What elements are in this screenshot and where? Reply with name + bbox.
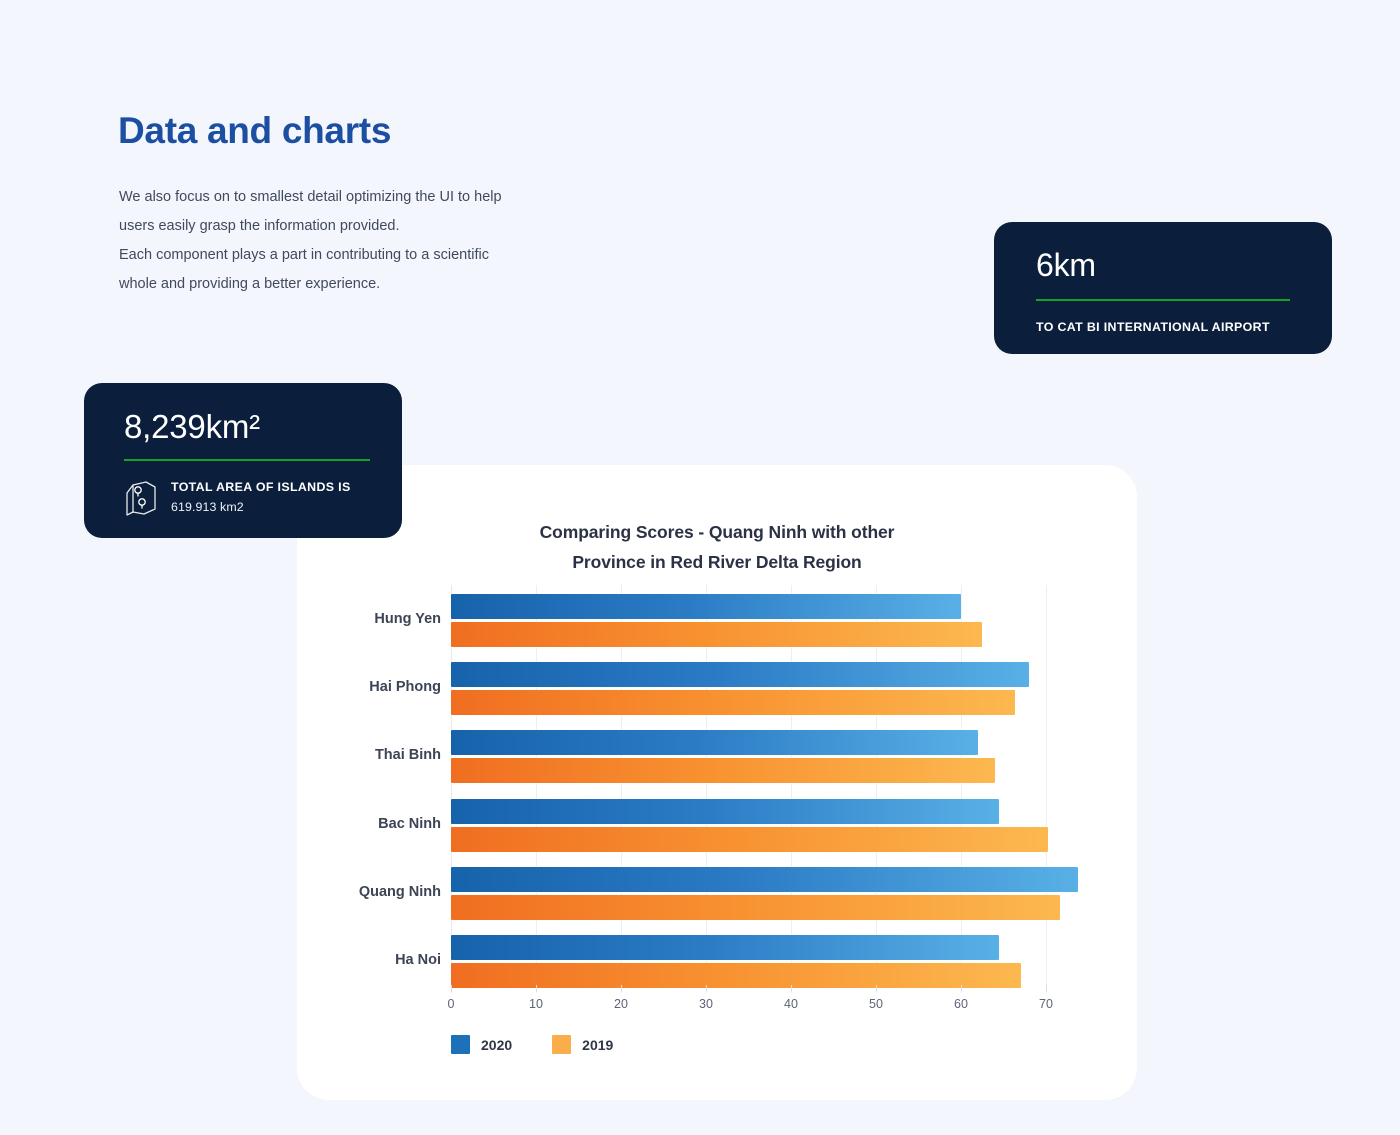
x-tick-label: 0 — [448, 997, 455, 1011]
stat-value: 8,239km² — [124, 409, 370, 445]
intro-line: Each component plays a part in contribut… — [119, 241, 589, 270]
bar-2019[interactable] — [451, 827, 1048, 852]
category-label: Ha Noi — [395, 952, 441, 968]
tick-mark — [621, 985, 622, 992]
stat-card-islands: 8,239km² TOTAL AREA OF ISLANDS IS 619.91… — [84, 383, 402, 538]
map-pins-icon — [124, 480, 158, 523]
bar-2020[interactable] — [451, 935, 999, 960]
bar-2019[interactable] — [451, 690, 1015, 715]
bar-row: Quang Ninh — [451, 858, 1091, 926]
intro-line: users easily grasp the information provi… — [119, 212, 589, 241]
divider — [1036, 299, 1290, 301]
x-tick-label: 70 — [1039, 997, 1053, 1011]
tick-mark — [791, 985, 792, 992]
category-label: Thai Binh — [375, 747, 441, 763]
legend-label: 2020 — [481, 1037, 512, 1053]
plot-area: Hung YenHai PhongThai BinhBac NinhQuang … — [451, 585, 1091, 993]
chart-title: Comparing Scores - Quang Ninh with other… — [297, 517, 1137, 577]
bar-row: Bac Ninh — [451, 790, 1091, 858]
category-label: Bac Ninh — [378, 816, 441, 832]
page-title: Data and charts — [118, 110, 391, 152]
legend-swatch — [451, 1035, 470, 1054]
bar-2020[interactable] — [451, 662, 1029, 687]
legend-swatch — [552, 1035, 571, 1054]
chart-legend: 20202019 — [451, 1035, 613, 1054]
x-axis: 010203040506070 — [451, 993, 1091, 1017]
stat-card-airport: 6km TO CAT BI INTERNATIONAL AIRPORT — [994, 222, 1332, 354]
x-tick-label: 30 — [699, 997, 713, 1011]
tick-mark — [536, 985, 537, 992]
x-tick-label: 60 — [954, 997, 968, 1011]
bar-2020[interactable] — [451, 730, 978, 755]
intro-paragraph: We also focus on to smallest detail opti… — [119, 183, 589, 299]
category-label: Hung Yen — [374, 611, 441, 627]
chart-title-line: Comparing Scores - Quang Ninh with other — [297, 517, 1137, 547]
tick-mark — [1046, 985, 1047, 992]
bar-row: Hai Phong — [451, 653, 1091, 721]
tick-mark — [876, 985, 877, 992]
bar-2020[interactable] — [451, 867, 1078, 892]
stat-label: TOTAL AREA OF ISLANDS IS — [171, 479, 351, 497]
bar-2019[interactable] — [451, 758, 995, 783]
tick-mark — [706, 985, 707, 992]
x-tick-label: 20 — [614, 997, 628, 1011]
bar-2020[interactable] — [451, 594, 961, 619]
tick-mark — [451, 985, 452, 992]
legend-item-2019[interactable]: 2019 — [552, 1035, 613, 1054]
intro-line: whole and providing a better experience. — [119, 270, 589, 299]
bar-2019[interactable] — [451, 895, 1060, 920]
chart-card: Comparing Scores - Quang Ninh with other… — [297, 465, 1137, 1100]
bar-row: Thai Binh — [451, 721, 1091, 789]
bar-2020[interactable] — [451, 799, 999, 824]
bar-2019[interactable] — [451, 622, 982, 647]
bar-row: Hung Yen — [451, 585, 1091, 653]
bar-rows: Hung YenHai PhongThai BinhBac NinhQuang … — [451, 585, 1091, 993]
x-tick-label: 50 — [869, 997, 883, 1011]
chart-title-line: Province in Red River Delta Region — [297, 547, 1137, 577]
stat-value: 6km — [1036, 248, 1290, 283]
divider — [124, 459, 370, 461]
x-tick-label: 10 — [529, 997, 543, 1011]
category-label: Hai Phong — [369, 679, 441, 695]
legend-item-2020[interactable]: 2020 — [451, 1035, 512, 1054]
category-label: Quang Ninh — [359, 884, 441, 900]
bar-row: Ha Noi — [451, 926, 1091, 994]
stat-label: TO CAT BI INTERNATIONAL AIRPORT — [1036, 319, 1270, 337]
legend-label: 2019 — [582, 1037, 613, 1053]
intro-line: We also focus on to smallest detail opti… — [119, 183, 589, 212]
x-tick-label: 40 — [784, 997, 798, 1011]
stat-sublabel: 619.913 km2 — [171, 500, 351, 514]
tick-mark — [961, 985, 962, 992]
